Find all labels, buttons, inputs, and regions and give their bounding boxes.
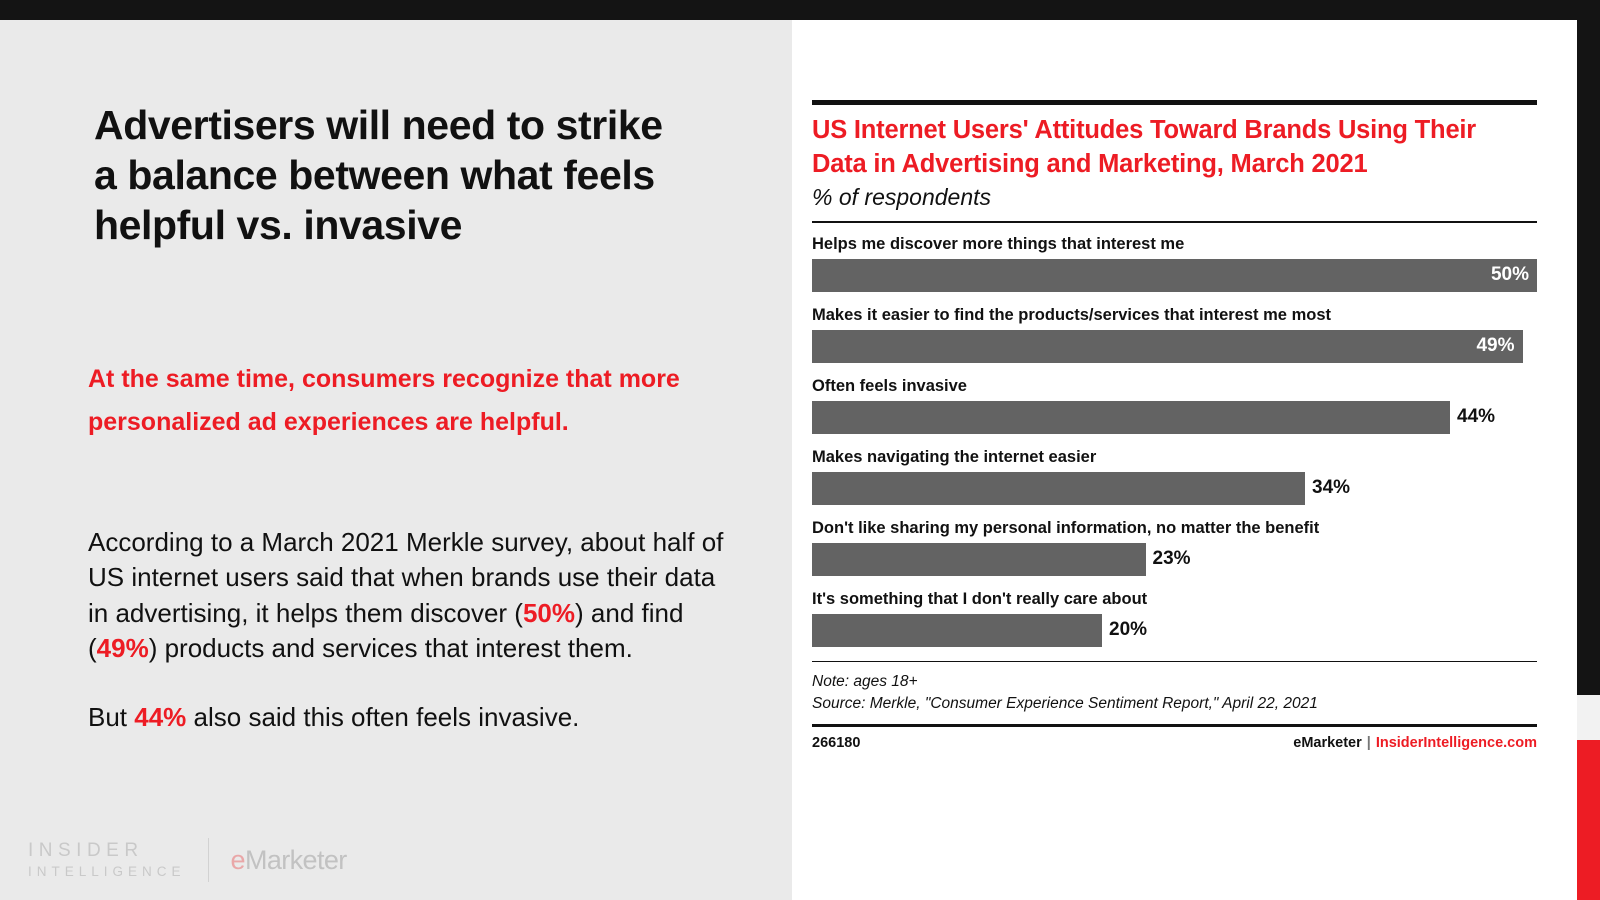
insider-intelligence-logo: INSIDER INTELLIGENCE bbox=[28, 841, 186, 879]
chart-id: 266180 bbox=[812, 735, 860, 751]
subheadline: At the same time, consumers recognize th… bbox=[88, 358, 728, 444]
bar-chart-plot: Helps me discover more things that inter… bbox=[812, 223, 1537, 647]
brand-insiderintelligence[interactable]: InsiderIntelligence.com bbox=[1376, 735, 1537, 751]
chart-card: US Internet Users' Attitudes Toward Bran… bbox=[792, 20, 1577, 900]
bar-value-label: 34% bbox=[1312, 477, 1350, 499]
bar-fill: 49% bbox=[812, 330, 1523, 363]
logo-divider bbox=[208, 838, 209, 882]
bar-row: Makes navigating the internet easier34% bbox=[812, 448, 1537, 505]
bar-fill bbox=[812, 401, 1450, 434]
paragraph-2-part-2: also said this often feels invasive. bbox=[186, 702, 579, 732]
paragraph-2-stat-44: 44% bbox=[134, 702, 186, 732]
bar-row: Often feels invasive44% bbox=[812, 377, 1537, 434]
top-decorative-band bbox=[0, 0, 1600, 20]
paragraph-1-part-3: ) products and services that interest th… bbox=[149, 633, 633, 663]
insider-logo-line-2: INTELLIGENCE bbox=[28, 865, 186, 879]
chart-inner: US Internet Users' Attitudes Toward Bran… bbox=[812, 100, 1537, 751]
insider-logo-line-1: INSIDER bbox=[28, 841, 186, 860]
chart-top-rule bbox=[812, 100, 1537, 105]
bar-value-label: 44% bbox=[1457, 406, 1495, 428]
chart-notes: Note: ages 18+ Source: Merkle, "Consumer… bbox=[812, 671, 1537, 715]
bar-fill: 50% bbox=[812, 259, 1537, 292]
emarketer-logo: eMarketer bbox=[231, 845, 347, 876]
chart-note: Note: ages 18+ bbox=[812, 671, 1537, 693]
bar-fill bbox=[812, 543, 1146, 576]
chart-subtitle: % of respondents bbox=[812, 184, 1537, 211]
bar-category-label: Helps me discover more things that inter… bbox=[812, 235, 1537, 254]
bar-track: 50% bbox=[812, 259, 1537, 292]
bar-fill bbox=[812, 614, 1102, 647]
brand-emarketer: eMarketer bbox=[1293, 735, 1362, 751]
chart-footer-row: 266180 eMarketer|InsiderIntelligence.com bbox=[812, 735, 1537, 751]
bar-category-label: Makes navigating the internet easier bbox=[812, 448, 1537, 467]
bar-track: 20% bbox=[812, 614, 1537, 647]
bar-category-label: Makes it easier to find the products/ser… bbox=[812, 306, 1537, 325]
brand-logo-lockup: INSIDER INTELLIGENCE eMarketer bbox=[28, 838, 347, 882]
page-title: Advertisers will need to strike a balanc… bbox=[94, 100, 694, 250]
emarketer-logo-e: e bbox=[231, 845, 245, 875]
bar-category-label: It's something that I don't really care … bbox=[812, 590, 1537, 609]
bar-track: 34% bbox=[812, 472, 1537, 505]
bar-row: Makes it easier to find the products/ser… bbox=[812, 306, 1537, 363]
chart-title: US Internet Users' Attitudes Toward Bran… bbox=[812, 114, 1537, 181]
paragraph-1-stat-50: 50% bbox=[523, 598, 575, 628]
left-content-panel: Advertisers will need to strike a balanc… bbox=[0, 20, 792, 900]
bar-track: 49% bbox=[812, 330, 1537, 363]
paragraph-1-stat-49: 49% bbox=[97, 633, 149, 663]
paragraph-2-part-1: But bbox=[88, 702, 134, 732]
emarketer-logo-rest: Marketer bbox=[245, 845, 347, 875]
bar-track: 44% bbox=[812, 401, 1537, 434]
chart-source: Source: Merkle, "Consumer Experience Sen… bbox=[812, 693, 1537, 715]
body-copy: According to a March 2021 Merkle survey,… bbox=[88, 525, 738, 736]
slide-canvas: Advertisers will need to strike a balanc… bbox=[0, 0, 1600, 900]
bar-value-label: 20% bbox=[1109, 619, 1147, 641]
bar-category-label: Don't like sharing my personal informati… bbox=[812, 519, 1537, 538]
chart-brand-credit: eMarketer|InsiderIntelligence.com bbox=[1293, 735, 1537, 751]
bar-fill bbox=[812, 472, 1305, 505]
paragraph-1: According to a March 2021 Merkle survey,… bbox=[88, 525, 738, 666]
bar-row: Helps me discover more things that inter… bbox=[812, 235, 1537, 292]
brand-separator: | bbox=[1367, 735, 1371, 751]
chart-footer-rule bbox=[812, 661, 1537, 663]
bar-value-label: 23% bbox=[1153, 548, 1191, 570]
bar-row: It's something that I don't really care … bbox=[812, 590, 1537, 647]
bar-row: Don't like sharing my personal informati… bbox=[812, 519, 1537, 576]
bar-value-label: 49% bbox=[1476, 335, 1514, 357]
paragraph-2: But 44% also said this often feels invas… bbox=[88, 700, 738, 735]
bar-track: 23% bbox=[812, 543, 1537, 576]
chart-bottom-rule bbox=[812, 724, 1537, 727]
bar-value-label: 50% bbox=[1491, 264, 1529, 286]
bar-category-label: Often feels invasive bbox=[812, 377, 1537, 396]
